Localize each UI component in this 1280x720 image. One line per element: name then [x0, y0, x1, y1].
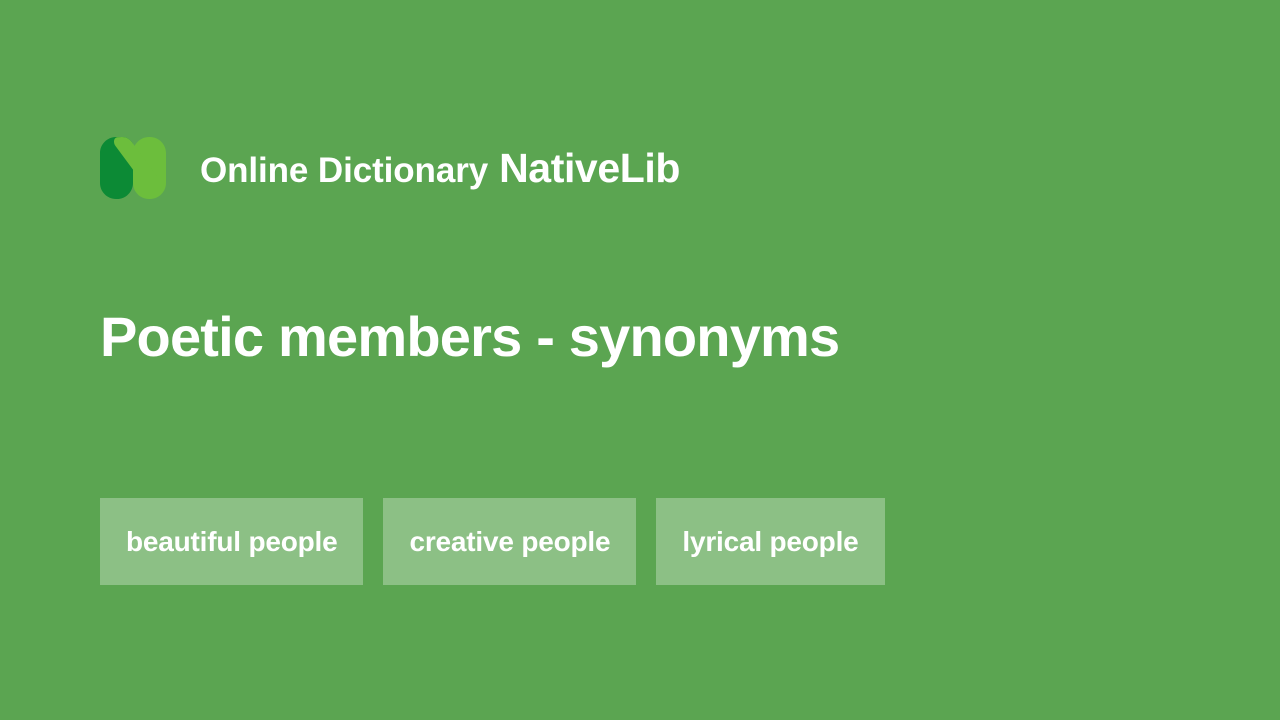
synonym-chip[interactable]: lyrical people — [656, 498, 884, 585]
synonym-chip[interactable]: creative people — [383, 498, 636, 585]
brand-title-prefix: Online Dictionary — [200, 153, 488, 188]
brand-name: NativeLib — [499, 148, 680, 189]
nativelib-logo-n-icon — [100, 137, 166, 199]
synonym-chip-row: beautiful people creative people lyrical… — [100, 498, 885, 585]
page-title: Poetic members - synonyms — [100, 306, 839, 368]
synonym-chip[interactable]: beautiful people — [100, 498, 363, 585]
brand-header[interactable]: Online Dictionary NativeLib — [100, 136, 680, 200]
page-root: Online Dictionary NativeLib Poetic membe… — [0, 0, 1280, 720]
brand-text: Online Dictionary NativeLib — [200, 148, 680, 189]
